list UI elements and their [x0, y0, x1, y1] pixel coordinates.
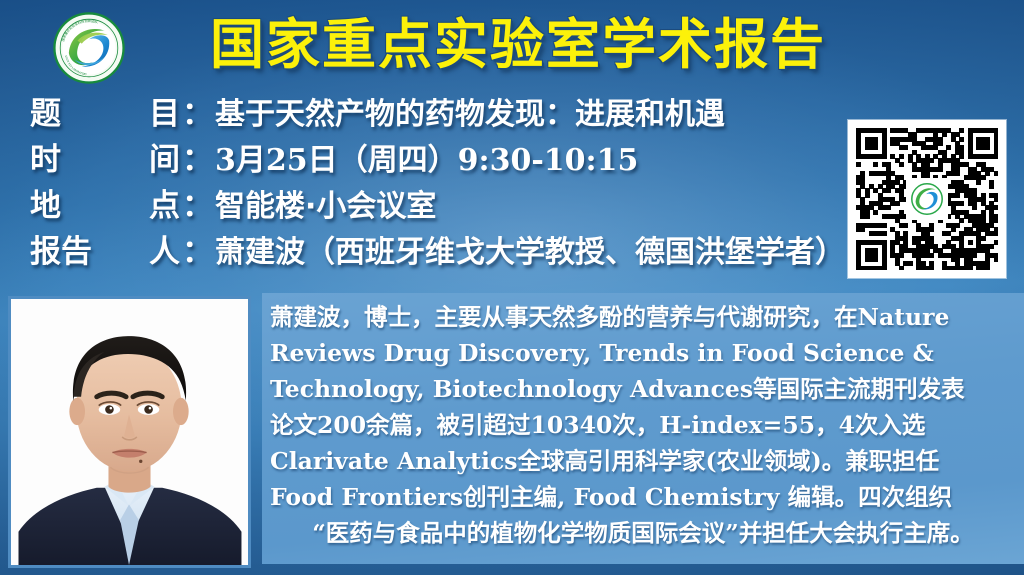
wechat-qr-code[interactable]: [848, 120, 1006, 278]
info-colon-speaker: ：: [180, 226, 215, 271]
speaker-portrait: [8, 296, 251, 568]
info-value-time: 3月25日（周四）9:30-10:15: [215, 135, 638, 179]
info-label-topic: 题 目: [30, 88, 180, 133]
info-colon-topic: ：: [180, 88, 215, 133]
info-label-location: 地 点: [30, 180, 180, 225]
laboratory-emblem-icon: [908, 180, 946, 218]
qr-matrix: [856, 128, 998, 270]
bio-line: 萧建波，博士，主要从事天然多酚的营养与代谢研究，在Nature: [270, 299, 1016, 335]
info-colon-time: ：: [180, 134, 215, 179]
bio-line: Clarivate Analytics全球高引用科学家(农业领域)。兼职担任: [270, 443, 1016, 479]
bio-line: 论文200余篇，被引超过10340次，H-index=55，4次入选: [270, 407, 1016, 443]
bio-line: “医药与食品中的植物化学物质国际会议”并担任大会执行主席。: [270, 515, 1016, 551]
info-value-speaker: 萧建波: [215, 227, 305, 271]
info-label-time: 时 间: [30, 134, 180, 179]
bio-line: Food Frontiers创刊主编, Food Chemistry 编辑。四次…: [270, 479, 1016, 515]
bio-line: Reviews Drug Discovery, Trends in Food S…: [270, 335, 1016, 371]
page-title: 国家重点实验室学术报告: [178, 14, 858, 76]
info-value-speaker-affiliation: （西班牙维戈大学教授、德国洪堡学者）: [305, 227, 845, 271]
speaker-bio-panel: 萧建波，博士，主要从事天然多酚的营养与代谢研究，在Nature Reviews …: [262, 293, 1024, 564]
seminar-poster: 国家重点实验室科技创新团队 STATE KEY LABORATORY 国家重点实…: [0, 0, 1024, 575]
info-colon-location: ：: [180, 180, 215, 225]
info-value-location: 智能楼·小会议室: [215, 181, 436, 225]
poster-header: 国家重点实验室科技创新团队 STATE KEY LABORATORY 国家重点实…: [0, 0, 1024, 90]
state-key-laboratory-emblem-icon: 国家重点实验室科技创新团队 STATE KEY LABORATORY: [53, 12, 125, 84]
info-value-topic: 基于天然产物的药物发现：进展和机遇: [215, 89, 725, 133]
bio-line: Technology, Biotechnology Advances等国际主流期…: [270, 371, 1016, 407]
info-label-speaker: 报告 人: [30, 226, 180, 271]
